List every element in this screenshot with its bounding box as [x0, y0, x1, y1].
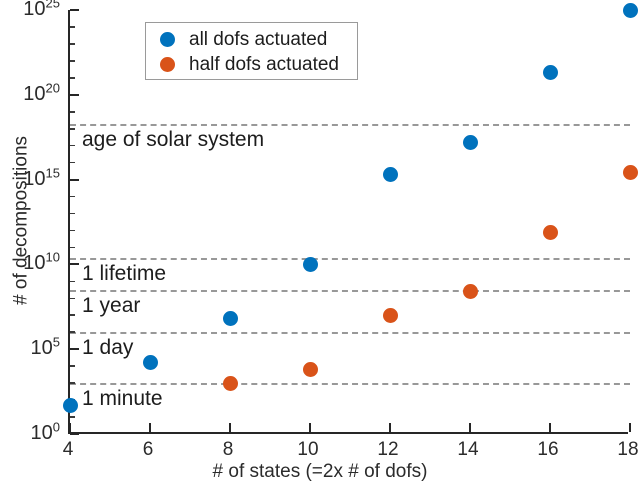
x-tick-major	[309, 423, 311, 432]
data-point-marker	[63, 398, 78, 413]
x-tick-label: 10	[288, 440, 328, 459]
y-tick-label-mantissa: 10	[23, 0, 45, 20]
x-tick-major	[149, 423, 151, 432]
data-point-marker	[543, 65, 558, 80]
reference-line	[70, 383, 630, 385]
data-point-marker	[223, 311, 238, 326]
legend-item-all-dofs: all dofs actuated	[146, 27, 357, 52]
y-tick-label: 1015	[0, 169, 60, 189]
y-tick-label-exponent: 20	[46, 80, 60, 95]
reference-line-label: age of solar system	[82, 129, 264, 150]
y-axis-title: # of decompositions	[12, 70, 33, 370]
y-tick-minor	[70, 230, 75, 232]
y-tick-label-exponent: 5	[53, 335, 60, 350]
y-tick-label-mantissa: 10	[23, 168, 45, 190]
x-tick-label: 6	[128, 440, 168, 459]
y-tick-major	[70, 433, 79, 435]
y-tick-label-mantissa: 10	[31, 337, 53, 359]
y-tick-minor	[70, 314, 75, 316]
data-point-marker	[623, 165, 638, 180]
y-tick-minor	[70, 281, 75, 283]
plot-area: age of solar system1 lifetime1 year1 day…	[68, 10, 628, 434]
y-tick-minor	[70, 60, 75, 62]
x-tick-label: 4	[48, 440, 88, 459]
data-point-marker	[543, 225, 558, 240]
x-tick-label: 16	[528, 440, 568, 459]
legend: all dofs actuated half dofs actuated	[145, 22, 358, 80]
data-point-marker	[383, 308, 398, 323]
y-tick-minor	[70, 196, 75, 198]
y-tick-label-exponent: 0	[53, 419, 60, 434]
y-tick-label-exponent: 25	[46, 0, 60, 10]
y-tick-label-mantissa: 10	[23, 83, 45, 105]
legend-item-label: half dofs actuated	[189, 55, 339, 74]
legend-item-label: all dofs actuated	[189, 30, 327, 49]
y-tick-minor	[70, 247, 75, 249]
x-tick-major	[549, 423, 551, 432]
y-tick-label-mantissa: 10	[23, 252, 45, 274]
data-point-marker	[463, 284, 478, 299]
x-tick-label: 8	[208, 440, 248, 459]
reference-line	[70, 290, 630, 292]
y-tick-label-exponent: 10	[46, 250, 60, 265]
data-point-marker	[383, 167, 398, 182]
reference-line-label: 1 minute	[82, 388, 163, 409]
y-tick-minor	[70, 382, 75, 384]
y-tick-minor	[70, 416, 75, 418]
reference-line-label: 1 lifetime	[82, 263, 166, 284]
data-point-marker	[463, 135, 478, 150]
x-tick-major	[69, 423, 71, 432]
y-tick-minor	[70, 298, 75, 300]
y-tick-label: 1010	[0, 253, 60, 273]
y-tick-label-exponent: 15	[46, 165, 60, 180]
data-point-marker	[303, 257, 318, 272]
legend-marker-icon	[160, 57, 175, 72]
x-tick-major	[389, 423, 391, 432]
x-tick-major	[229, 423, 231, 432]
reference-line	[70, 258, 630, 260]
reference-line-label: 1 year	[82, 295, 140, 316]
legend-item-half-dofs: half dofs actuated	[146, 52, 357, 77]
y-tick-minor	[70, 145, 75, 147]
x-tick-label: 12	[368, 440, 408, 459]
x-tick-label: 14	[448, 440, 488, 459]
y-tick-minor	[70, 77, 75, 79]
reference-line	[70, 332, 630, 334]
y-tick-major	[70, 179, 79, 181]
data-point-marker	[623, 3, 638, 18]
reference-line-label: 1 day	[82, 337, 133, 358]
legend-marker-icon	[160, 32, 175, 47]
data-point-marker	[223, 376, 238, 391]
y-tick-minor	[70, 111, 75, 113]
x-tick-label: 18	[608, 440, 640, 459]
y-tick-minor	[70, 128, 75, 130]
y-tick-major	[70, 9, 79, 11]
y-tick-label: 105	[0, 338, 60, 358]
x-axis-title: # of states (=2x # of dofs)	[0, 462, 640, 483]
y-tick-minor	[70, 43, 75, 45]
y-tick-major	[70, 348, 79, 350]
y-tick-minor	[70, 331, 75, 333]
x-tick-major	[629, 423, 631, 432]
y-tick-label: 1025	[0, 0, 60, 19]
figure-root: # of decompositions # of states (=2x # o…	[0, 0, 640, 487]
data-point-marker	[143, 355, 158, 370]
y-tick-major	[70, 94, 79, 96]
data-point-marker	[303, 362, 318, 377]
y-tick-major	[70, 263, 79, 265]
y-tick-label: 1020	[0, 84, 60, 104]
y-tick-minor	[70, 26, 75, 28]
y-tick-minor	[70, 162, 75, 164]
y-tick-minor	[70, 213, 75, 215]
x-tick-major	[469, 423, 471, 432]
reference-line	[70, 124, 630, 126]
y-tick-minor	[70, 365, 75, 367]
